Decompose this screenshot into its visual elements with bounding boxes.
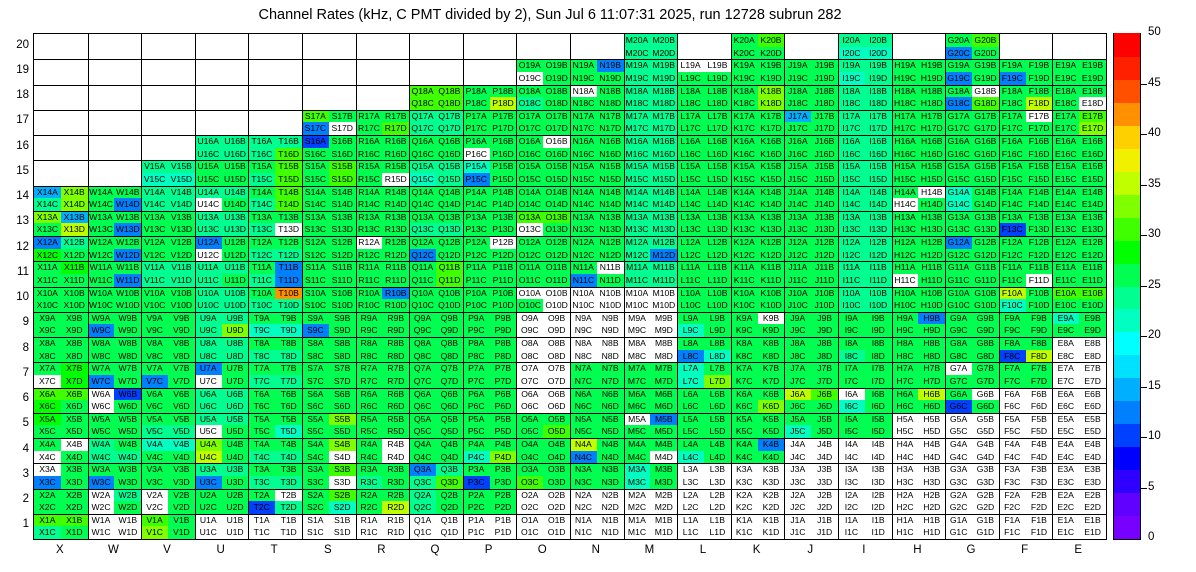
heatmap-cell: S4B [329,438,356,451]
heatmap-cell: E2A [1052,489,1079,502]
heatmap-cell: K13C [731,223,758,236]
heatmap-cell: U3C [195,476,222,489]
heatmap-cell: Q16C [409,148,436,161]
heatmap-cell: L3C [677,476,704,489]
heatmap-cell: L14C [677,198,704,211]
heatmap-cell: X2D [61,501,88,514]
heatmap-cell: R14C [356,198,383,211]
heatmap-cell: H17B [918,110,945,123]
heatmap-cell: X14B [61,186,88,199]
heatmap-cell: U10A [195,287,222,300]
heatmap-cell: G10B [972,287,999,300]
heatmap-cell: X11A [34,261,61,274]
heatmap-cell: U5C [195,425,222,438]
heatmap-cell: F13D [1026,223,1053,236]
heatmap-cell: S6B [329,388,356,401]
heatmap-cell: W14B [114,186,141,199]
heatmap-cell: E11D [1079,274,1106,287]
heatmap-cell: G18D [972,97,999,110]
heatmap-cell: S5B [329,413,356,426]
heatmap-cell: F1C [999,526,1026,539]
heatmap-cell: M14B [650,186,677,199]
heatmap-cell: K2C [731,501,758,514]
heatmap-cell: P13D [490,223,517,236]
heatmap-cell: I6D [865,400,892,413]
heatmap-cell: G16A [945,135,972,148]
heatmap-cell: T5A [248,413,275,426]
heatmap-cell: I1D [865,526,892,539]
heatmap-cell: R9B [382,312,409,325]
heatmap-cell: E9C [1052,324,1079,337]
heatmap-cell: R13B [382,211,409,224]
heatmap-cell: L2A [677,489,704,502]
heatmap-cell: I9D [865,324,892,337]
heatmap-cell: F9D [1026,324,1053,337]
heatmap-cell: H19D [918,72,945,85]
heatmap-cell: H13C [892,223,919,236]
heatmap-cell: J10D [811,299,838,312]
heatmap-cell: N7D [597,375,624,388]
heatmap-cell: P4C [463,451,490,464]
heatmap-cell: W12B [114,236,141,249]
heatmap-cell: X10C [34,299,61,312]
heatmap-cell: F19B [1026,59,1053,72]
heatmap-cell: M9D [650,324,677,337]
heatmap-cell: I13C [838,223,865,236]
heatmap-cell: N17D [597,122,624,135]
heatmap-cell: K7D [758,375,785,388]
heatmap-cell: J17A [784,110,811,123]
heatmap-cell: P11B [490,261,517,274]
heatmap-cell: X8B [61,337,88,350]
colorbar-segment [1114,102,1140,126]
heatmap-cell: S1A [302,514,329,527]
x-axis-tick: P [462,544,516,556]
heatmap-cell: I15A [838,160,865,173]
heatmap-cell: J2D [811,501,838,514]
heatmap-cell: K14B [758,186,785,199]
heatmap-cell: Q5A [409,413,436,426]
heatmap-cell: K3A [731,463,758,476]
grid-line-horizontal [34,312,1106,313]
heatmap-cell: X13B [61,211,88,224]
heatmap-cell: I7C [838,375,865,388]
heatmap-cell: S12B [329,236,356,249]
heatmap-cell: P16B [490,135,517,148]
grid-line-horizontal [34,489,1106,490]
colorbar-tick-mark [1141,437,1147,438]
heatmap-cell: L15B [704,160,731,173]
heatmap-cell: H17C [892,122,919,135]
heatmap-cell: W5B [114,413,141,426]
heatmap-cell: S7C [302,375,329,388]
y-axis: 2019181716151413121110987654321 [0,33,29,540]
heatmap-cell: R16A [356,135,383,148]
heatmap-cell: O11C [516,274,543,287]
heatmap-cell: E18A [1052,85,1079,98]
heatmap-cell: W1A [88,514,115,527]
colorbar-segment [1114,194,1140,218]
heatmap-cell: F4B [1026,438,1053,451]
heatmap-cell: V13B [168,211,195,224]
heatmap-cell: H11B [918,261,945,274]
heatmap-cell: W10C [88,299,115,312]
heatmap-cell: M12D [650,249,677,262]
heatmap-cell: K15B [758,160,785,173]
heatmap-cell: O14C [516,198,543,211]
heatmap-cell: U5A [195,413,222,426]
y-axis-tick: 19 [3,64,29,76]
heatmap-cell: N14A [570,186,597,199]
heatmap-cell: H4C [892,451,919,464]
heatmap-cell: V1A [141,514,168,527]
heatmap-cell: L17D [704,122,731,135]
heatmap-cell: I9A [838,312,865,325]
colorbar-segment [1114,470,1140,494]
heatmap-cell: F10B [1026,287,1053,300]
heatmap-cell: L18B [704,85,731,98]
heatmap-cell: X7B [61,362,88,375]
heatmap-cell: I4D [865,451,892,464]
heatmap-cell: T7C [248,375,275,388]
heatmap-cell: P5B [490,413,517,426]
heatmap-cell: L13C [677,223,704,236]
heatmap-cell: G18A [945,85,972,98]
heatmap-cell: I13B [865,211,892,224]
heatmap-cell: J14A [784,186,811,199]
heatmap-cell: R12A [356,236,383,249]
heatmap-cell: R16D [382,148,409,161]
heatmap-cell: Q3D [436,476,463,489]
heatmap-cell: J4B [811,438,838,451]
heatmap-cell: W6B [114,388,141,401]
heatmap-cell: N11D [597,274,624,287]
heatmap-cell: H9A [892,312,919,325]
heatmap-cell: G11D [972,274,999,287]
heatmap-cell: J6A [784,388,811,401]
heatmap-cell: U11D [222,274,249,287]
heatmap-cell: F1D [1026,526,1053,539]
heatmap-cell: U15C [195,173,222,186]
heatmap-cell: R12D [382,249,409,262]
heatmap-cell: K5A [731,413,758,426]
heatmap-cell: E15A [1052,160,1079,173]
heatmap-cell: K10C [731,299,758,312]
heatmap-cell: Q8A [409,337,436,350]
heatmap-cell: U3A [195,463,222,476]
heatmap-cell: N8A [570,337,597,350]
heatmap-cell: G8B [972,337,999,350]
heatmap-cell: X12A [34,236,61,249]
heatmap-cell: U16C [195,148,222,161]
heatmap-cell: R5C [356,425,383,438]
heatmap-cell: X11B [61,261,88,274]
heatmap-cell: H1B [918,514,945,527]
heatmap-cell: U14D [222,198,249,211]
heatmap-cell: K14D [758,198,785,211]
heatmap-cell: G18C [945,97,972,110]
heatmap-cell: J12B [811,236,838,249]
heatmap-cell: K9A [731,312,758,325]
heatmap-cell: S1C [302,526,329,539]
heatmap-cell: I16D [865,148,892,161]
heatmap-cell: Q2A [409,489,436,502]
heatmap-cell: E5B [1079,413,1106,426]
x-axis-tick: O [515,544,569,556]
heatmap-cell: I5C [838,425,865,438]
heatmap-cell: X5C [34,425,61,438]
heatmap-cell: F3D [1026,476,1053,489]
heatmap-cell: O15D [543,173,570,186]
heatmap-cell: V5C [141,425,168,438]
heatmap-cell: T12C [248,249,275,262]
heatmap-cell: O9A [516,312,543,325]
heatmap-cell: V4B [168,438,195,451]
heatmap-cell: E8D [1079,350,1106,363]
heatmap-cell: R3A [356,463,383,476]
heatmap-cell: P7D [490,375,517,388]
x-axis-tick: S [301,544,355,556]
heatmap-cell: Q11C [409,274,436,287]
heatmap-cell: O18D [543,97,570,110]
x-axis-tick: J [783,544,837,556]
heatmap-cell: K12A [731,236,758,249]
heatmap-cell: L12B [704,236,731,249]
heatmap-cell: P3B [490,463,517,476]
heatmap-cell: M14A [624,186,651,199]
heatmap-cell: I18A [838,85,865,98]
heatmap-cell: S9C [302,324,329,337]
heatmap-cell: H5D [918,425,945,438]
heatmap-cell: W6C [88,400,115,413]
heatmap-cell: J14C [784,198,811,211]
heatmap-cell: J4C [784,451,811,464]
heatmap-cell: J17D [811,122,838,135]
heatmap-cell: U9D [222,324,249,337]
heatmap-cell: K1B [758,514,785,527]
heatmap-cell: I17C [838,122,865,135]
heatmap-cell: Q6D [436,400,463,413]
heatmap-cell: Q11A [409,261,436,274]
heatmap-cell: R2C [356,501,383,514]
heatmap-cell: T11A [248,261,275,274]
heatmap-cell: R11C [356,274,383,287]
heatmap-cell: E3D [1079,476,1106,489]
heatmap-cell: I8C [838,350,865,363]
grid-line-horizontal [34,85,1106,86]
heatmap-cell: P4D [490,451,517,464]
heatmap-cell: X4D [61,451,88,464]
heatmap-cell: K19C [731,72,758,85]
heatmap-cell: M18B [650,85,677,98]
heatmap-cell: U14C [195,198,222,211]
heatmap-cell: P18B [490,85,517,98]
heatmap-cell: G6A [945,388,972,401]
heatmap-cell: W5D [114,425,141,438]
heatmap-cell: V13C [141,223,168,236]
heatmap-cell: Q15D [436,173,463,186]
heatmap-cell: P18A [463,85,490,98]
heatmap-cell: R6C [356,400,383,413]
heatmap-cell: G20B [972,34,999,47]
heatmap-cell: I11C [838,274,865,287]
heatmap-cell: L7B [704,362,731,375]
heatmap-cell: M5D [650,425,677,438]
heatmap-cell: T15D [275,173,302,186]
heatmap-cell: V5A [141,413,168,426]
heatmap-cell: G9C [945,324,972,337]
heatmap-cell: P14A [463,186,490,199]
heatmap-cell: K9D [758,324,785,337]
heatmap-cell: G11B [972,261,999,274]
heatmap-cell: T15B [275,160,302,173]
heatmap-cell: R10A [356,287,383,300]
heatmap-cell: F18A [999,85,1026,98]
heatmap-cell: F7A [999,362,1026,375]
heatmap-cell: E9B [1079,312,1106,325]
heatmap-cell: L11C [677,274,704,287]
heatmap-cell: V6D [168,400,195,413]
heatmap-cell: Q9A [409,312,436,325]
y-axis-tick: 8 [3,342,29,354]
heatmap-cell: O5A [516,413,543,426]
heatmap-cell: W2A [88,489,115,502]
heatmap-cell: P6C [463,400,490,413]
heatmap-cell: Q1D [436,526,463,539]
heatmap-cell: J7A [784,362,811,375]
heatmap-cell: W10B [114,287,141,300]
colorbar-tick-mark [1141,185,1147,186]
heatmap-cell: R14A [356,186,383,199]
heatmap-cell: K17D [758,122,785,135]
heatmap-cell: O19A [516,59,543,72]
heatmap-cell: F16D [1026,148,1053,161]
heatmap-cell: R11A [356,261,383,274]
heatmap-cell: J15A [784,160,811,173]
heatmap-cell: N16D [597,148,624,161]
heatmap-cell: L19C [677,72,704,85]
y-axis-tick: 4 [3,443,29,455]
heatmap-cell: N2A [570,489,597,502]
heatmap-cell: I18C [838,97,865,110]
colorbar-segment [1114,309,1140,333]
heatmap-cell: I1C [838,526,865,539]
heatmap-cell: V9B [168,312,195,325]
heatmap-cell: N12D [597,249,624,262]
heatmap-cell: F12B [1026,236,1053,249]
heatmap-cell: K11B [758,261,785,274]
heatmap-cell: E15D [1079,173,1106,186]
y-axis-tick: 1 [3,518,29,530]
heatmap-cell: R3D [382,476,409,489]
colorbar-tick-label: 25 [1148,279,1161,291]
heatmap-cell: T13B [275,211,302,224]
heatmap-cell: V3C [141,476,168,489]
colorbar-segment [1114,263,1140,287]
heatmap-cell: E5D [1079,425,1106,438]
heatmap-plot: M20AM20BM20CM20DK20AK20BK20CK20DI20AI20B… [33,33,1107,540]
heatmap-cell: V6B [168,388,195,401]
heatmap-cell: M7D [650,375,677,388]
heatmap-cell: J12D [811,249,838,262]
heatmap-cell: U6D [222,400,249,413]
colorbar-tick-label: 50 [1148,26,1161,38]
heatmap-cell: Q13B [436,211,463,224]
heatmap-cell: I14A [838,186,865,199]
heatmap-cell: E13B [1079,211,1106,224]
colorbar-segment [1114,493,1140,517]
heatmap-cell: J19C [784,72,811,85]
heatmap-cell: O2B [543,489,570,502]
heatmap-cell: X1C [34,526,61,539]
heatmap-cell: G17A [945,110,972,123]
heatmap-cell: N19B [597,59,624,72]
grid-line-horizontal [34,211,1106,212]
heatmap-cell: K7B [758,362,785,375]
heatmap-cell: J11C [784,274,811,287]
heatmap-cell: G16C [945,148,972,161]
heatmap-cell: V6A [141,388,168,401]
heatmap-cell: N1C [570,526,597,539]
heatmap-cell: I9B [865,312,892,325]
heatmap-cell: E1D [1079,526,1106,539]
heatmap-cell: R2B [382,489,409,502]
heatmap-cell: K7C [731,375,758,388]
heatmap-cell: M12B [650,236,677,249]
heatmap-cell: G12C [945,249,972,262]
heatmap-cell: M4C [624,451,651,464]
heatmap-cell: H19C [892,72,919,85]
heatmap-cell: E18D [1079,97,1106,110]
heatmap-cell: X6D [61,400,88,413]
heatmap-cell: R16B [382,135,409,148]
heatmap-cell: H18D [918,97,945,110]
heatmap-cell: J3B [811,463,838,476]
colorbar-tick-label: 45 [1148,77,1161,89]
heatmap-cell: I2C [838,501,865,514]
heatmap-cell: S10D [329,299,356,312]
heatmap-cell: K6A [731,388,758,401]
heatmap-cell: V10C [141,299,168,312]
heatmap-cell: K2D [758,501,785,514]
heatmap-cell: T1B [275,514,302,527]
grid-line-horizontal [34,413,1106,414]
heatmap-cell: E4C [1052,451,1079,464]
heatmap-cell: J10B [811,287,838,300]
heatmap-cell: K8A [731,337,758,350]
heatmap-cell: N19A [570,59,597,72]
heatmap-cell: K18A [731,85,758,98]
heatmap-cell: I17B [865,110,892,123]
heatmap-cell: O8B [543,337,570,350]
heatmap-cell: L9C [677,324,704,337]
heatmap-cell: L6B [704,388,731,401]
heatmap-cell: W8A [88,337,115,350]
heatmap-cell: I5A [838,413,865,426]
heatmap-cell: J4A [784,438,811,451]
heatmap-cell: V13D [168,223,195,236]
heatmap-cell: L4D [704,451,731,464]
heatmap-cell: W14C [88,198,115,211]
heatmap-cell: P1D [490,526,517,539]
heatmap-cell: S13D [329,223,356,236]
heatmap-cell: Q10D [436,299,463,312]
heatmap-cell: T7A [248,362,275,375]
heatmap-cell: K1A [731,514,758,527]
heatmap-cell: X2C [34,501,61,514]
heatmap-cell: I7D [865,375,892,388]
heatmap-cell: X12B [61,236,88,249]
